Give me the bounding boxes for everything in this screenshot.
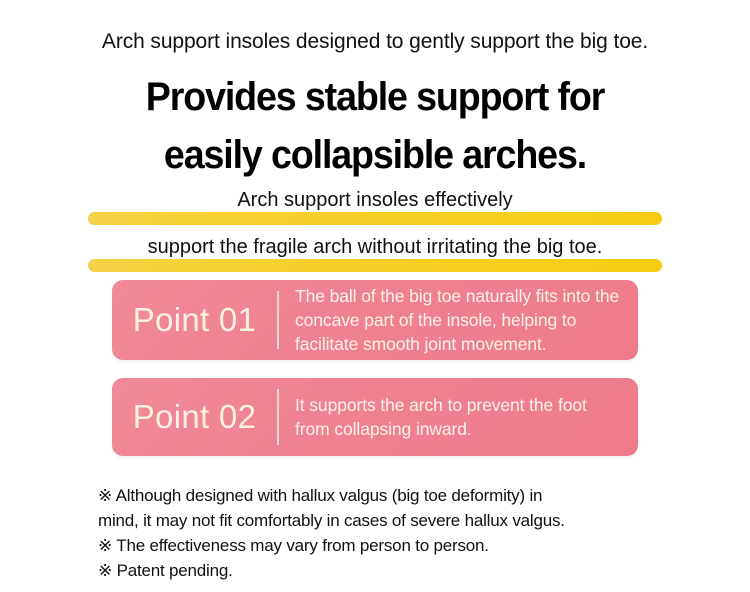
footnote-line: mind, it may not fit comfortably in case… [98, 508, 698, 533]
point-card-body: The ball of the big toe naturally fits i… [279, 284, 624, 356]
highlight-block: Arch support insoles effectively support… [0, 185, 750, 279]
footnotes: ※ Although designed with hallux valgus (… [98, 483, 698, 583]
footnote-line: ※ The effectiveness may vary from person… [98, 533, 698, 558]
point-card: Point 01 The ball of the big toe natural… [112, 280, 638, 360]
headline-line-1: Provides stable support for [23, 68, 728, 126]
highlight-line-1: Arch support insoles effectively [0, 185, 750, 232]
intro-text: Arch support insoles designed to gently … [0, 28, 750, 56]
highlight-text-1: Arch support insoles effectively [0, 185, 750, 215]
promo-page: Arch support insoles designed to gently … [0, 0, 750, 592]
footnote-line: ※ Although designed with hallux valgus (… [98, 483, 698, 508]
headline-line-2: easily collapsible arches. [23, 126, 728, 184]
point-card-body: It supports the arch to prevent the foot… [279, 393, 624, 441]
point-card-label: Point 02 [112, 399, 277, 435]
highlight-line-2: support the fragile arch without irritat… [0, 232, 750, 279]
point-card-label: Point 01 [112, 302, 277, 338]
point-card-divider [277, 291, 279, 349]
point-card: Point 02 It supports the arch to prevent… [112, 378, 638, 456]
headline: Provides stable support for easily colla… [0, 68, 750, 184]
point-card-divider [277, 389, 279, 445]
footnote-line: ※ Patent pending. [98, 558, 698, 583]
highlight-text-2: support the fragile arch without irritat… [0, 232, 750, 262]
